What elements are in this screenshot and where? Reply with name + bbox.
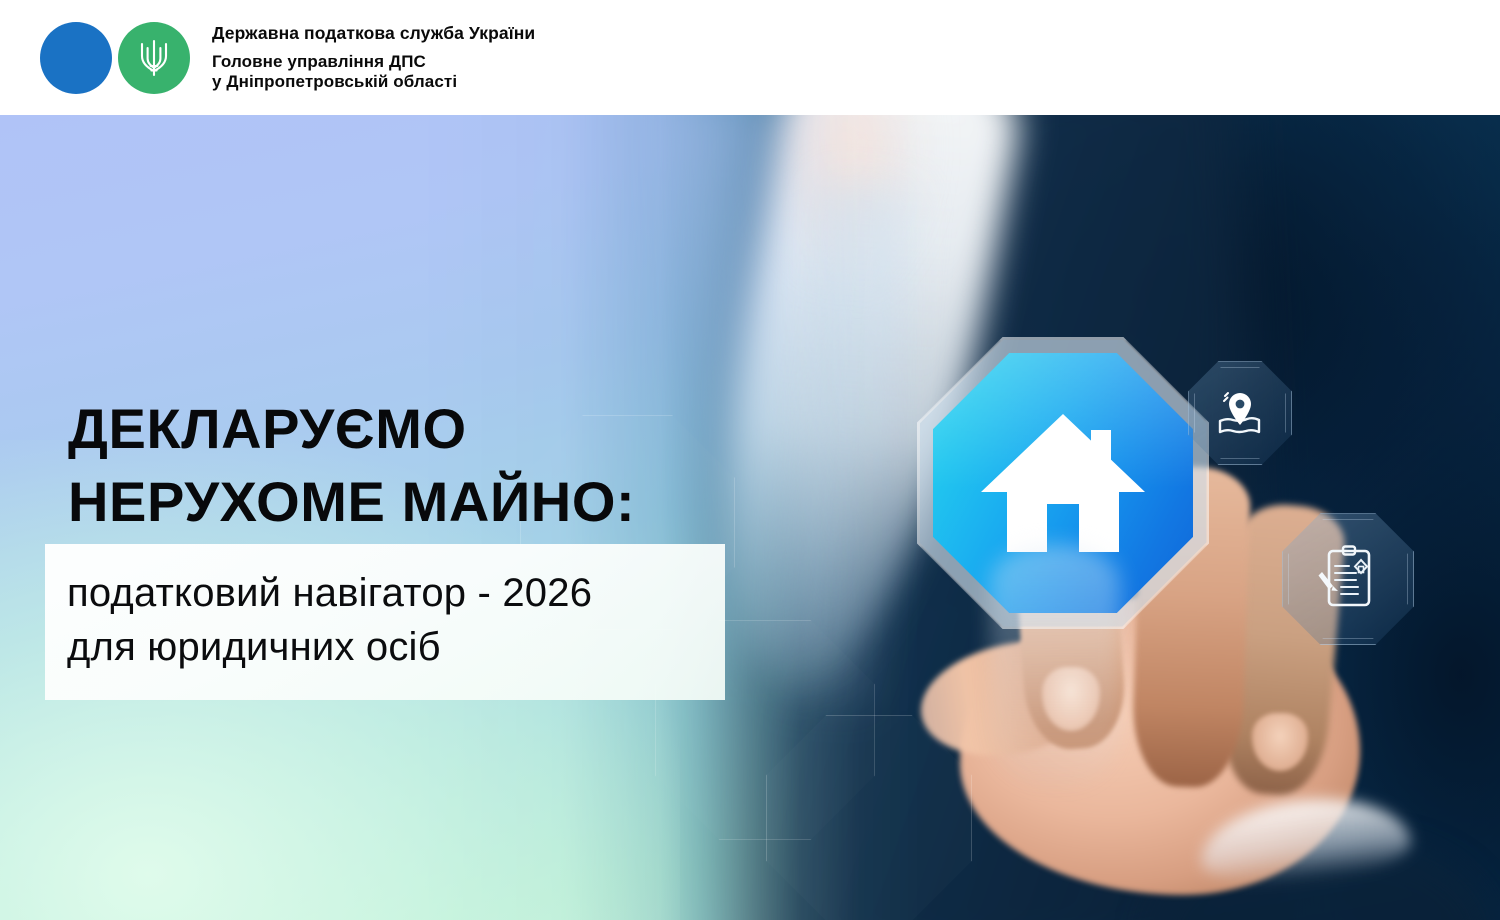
house-icon-octagon[interactable] bbox=[917, 337, 1209, 629]
hero-headline: ДЕКЛАРУЄМО НЕРУХОМЕ МАЙНО: bbox=[68, 393, 635, 539]
hero-banner: ДЕКЛАРУЄМО НЕРУХОМЕ МАЙНО: податковий на… bbox=[0, 115, 1500, 920]
agency-name-primary: Державна податкова служба України bbox=[212, 25, 535, 43]
agency-logo bbox=[36, 22, 186, 94]
ukrainian-trident-icon bbox=[136, 36, 172, 80]
hero-subtitle-box: податковий навігатор - 2026 для юридични… bbox=[45, 544, 725, 700]
poster-root: Державна податкова служба України Головн… bbox=[0, 0, 1500, 920]
site-header: Державна податкова служба України Головн… bbox=[0, 0, 1500, 115]
hero-subtitle-line-2: для юридичних осіб bbox=[67, 621, 725, 675]
agency-title-block: Державна податкова служба України Головн… bbox=[212, 25, 535, 91]
house-icon bbox=[979, 408, 1147, 558]
decorative-octagon-outline bbox=[766, 715, 972, 920]
house-octagon-face bbox=[933, 353, 1193, 613]
map-location-pin-icon bbox=[1212, 385, 1268, 441]
hero-subtitle-line-1: податковий навігатор - 2026 bbox=[67, 567, 725, 621]
logo-blue-circle-icon bbox=[40, 22, 112, 94]
declaration-form-octagon[interactable] bbox=[1282, 513, 1414, 645]
map-location-octagon[interactable] bbox=[1188, 361, 1292, 465]
logo-green-circle-icon bbox=[118, 22, 190, 94]
agency-name-secondary: Головне управління ДПС bbox=[212, 53, 535, 70]
agency-region: у Дніпропетровській області bbox=[212, 73, 535, 90]
clipboard-pen-house-icon bbox=[1311, 542, 1385, 616]
